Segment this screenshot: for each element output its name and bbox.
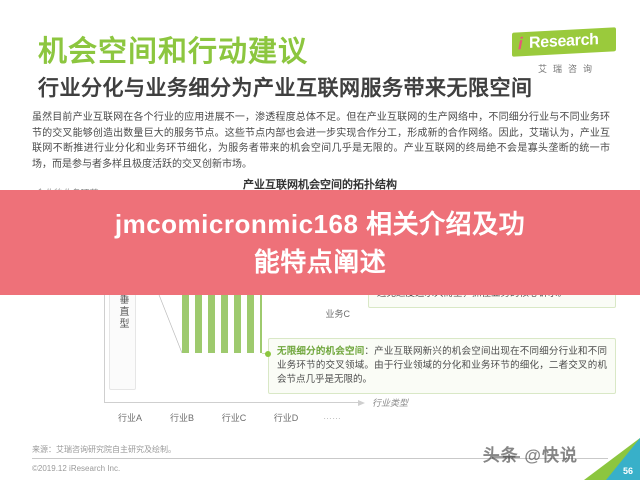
- logo-wordmark: Research: [529, 30, 599, 54]
- source-note: 来源：艾瑞咨询研究院自主研究及绘制。: [32, 444, 176, 455]
- x-tick-2: 行业C: [222, 411, 247, 424]
- annotation-bottom: 无限细分的机会空间：产业互联网新兴的机会空间出现在不同细分行业和不同业务环节的交…: [268, 338, 616, 394]
- x-axis-arrow-icon: [358, 400, 365, 406]
- annotation-bullet-icon: [265, 351, 271, 357]
- x-axis-line: [104, 402, 358, 403]
- logo-badge-icon: i Research: [512, 27, 616, 56]
- page-subtitle: 行业分化与业务细分为产业互联网服务带来无限空间: [38, 72, 533, 102]
- logo-i-mark: i: [518, 34, 523, 54]
- x-tick-3: 行业D: [274, 411, 299, 424]
- watermark-text: 头条 @快说: [483, 441, 578, 466]
- x-tick-4: ……: [323, 411, 341, 421]
- annotation-bottom-title: 无限细分的机会空间: [277, 346, 364, 357]
- slide-page: 机会空间和行动建议 行业分化与业务细分为产业互联网服务带来无限空间 i Rese…: [0, 0, 640, 480]
- page-number: 56: [623, 466, 633, 476]
- x-tick-1: 行业B: [170, 411, 194, 424]
- intro-paragraph: 虽然目前产业互联网在各个行业的应用进展不一，渗透程度总体不足。但在产业互联网的生…: [32, 110, 610, 172]
- overlay-line-1: jmcomicronmic168 相关介绍及功: [115, 205, 525, 243]
- x-tick-0: 行业A: [118, 411, 142, 424]
- x-axis-label: 行业类型: [372, 396, 408, 409]
- overlay-line-2: 能特点阐述: [254, 243, 387, 281]
- iresearch-logo: i Research 艾瑞咨询: [512, 30, 618, 75]
- copyright-note: ©2019.12 iResearch Inc.: [32, 464, 120, 473]
- y-tick-2: 业务C: [326, 307, 351, 320]
- overlay-banner-text: jmcomicronmic168 相关介绍及功 能特点阐述: [0, 190, 640, 295]
- page-title: 机会空间和行动建议: [38, 28, 308, 70]
- logo-chinese-name: 艾瑞咨询: [512, 62, 618, 75]
